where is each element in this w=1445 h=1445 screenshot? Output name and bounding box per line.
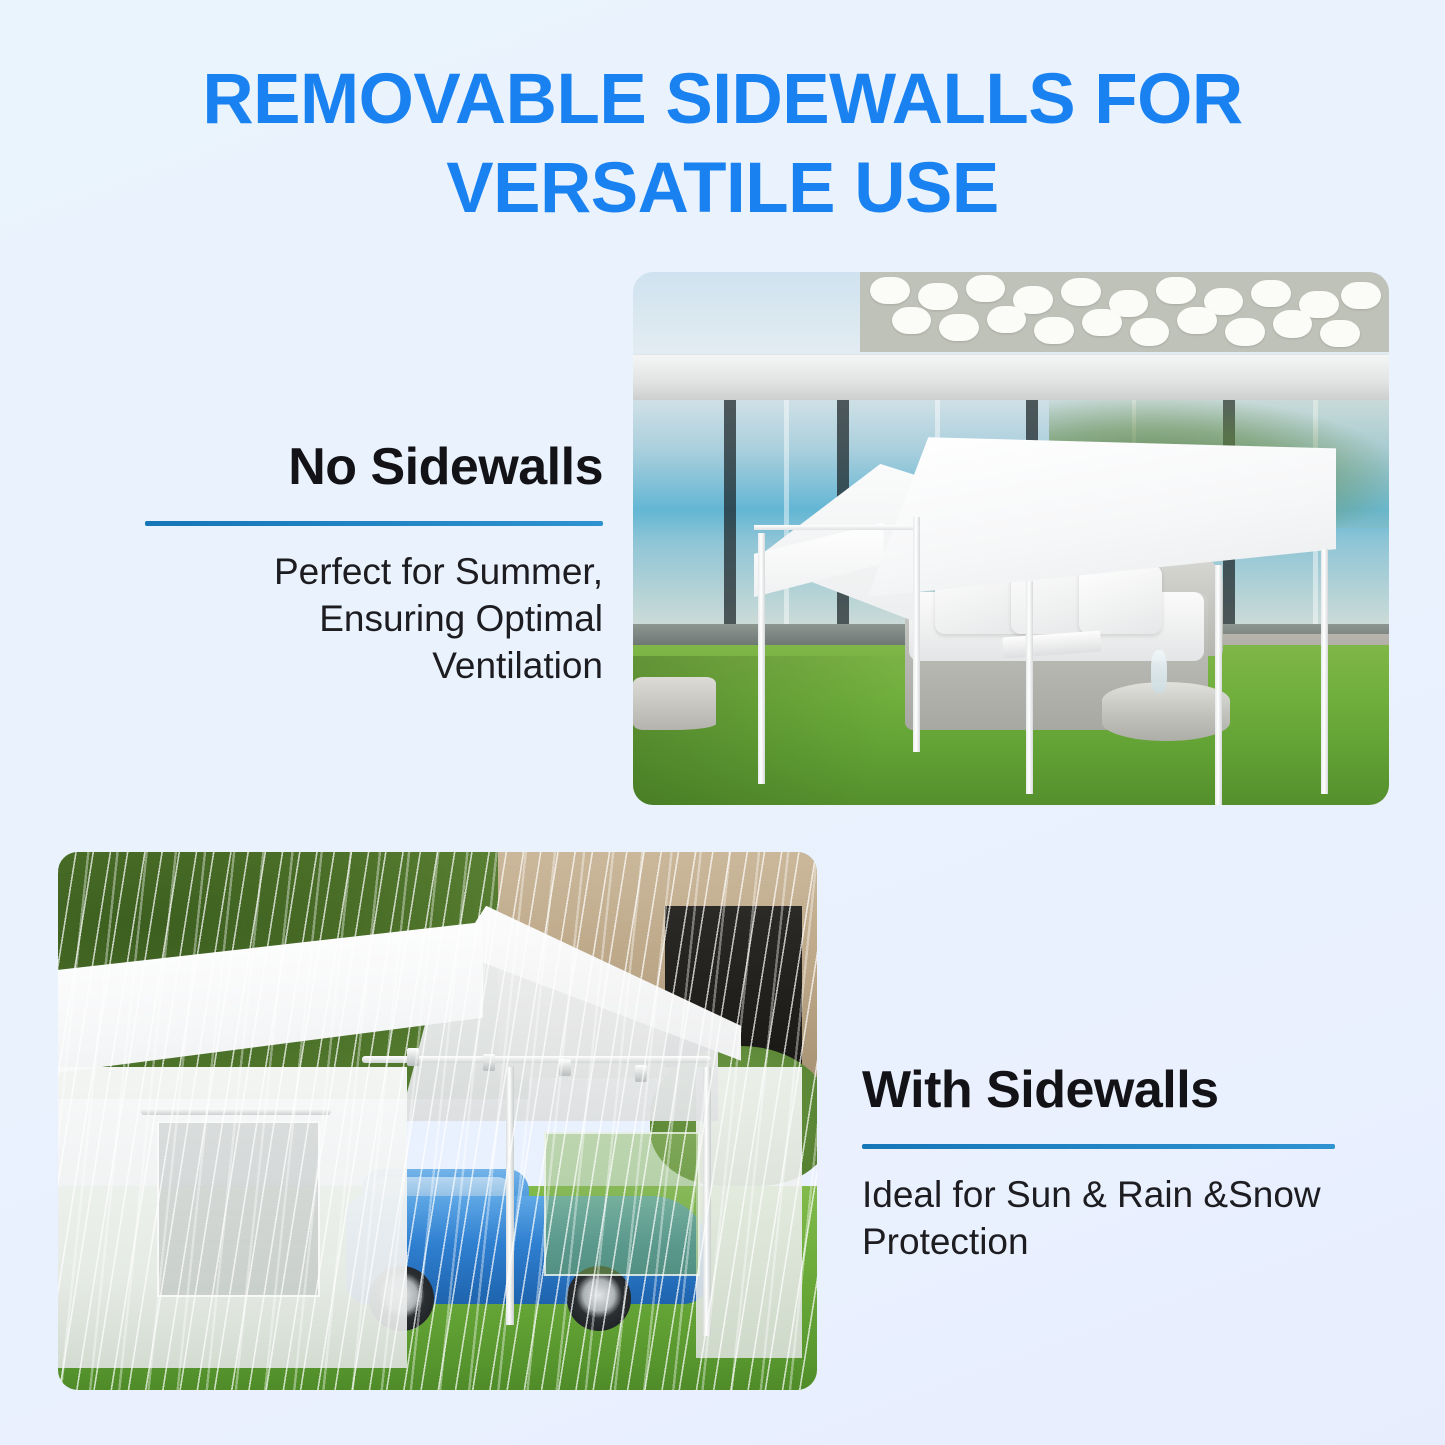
feature-with-sidewalls: With Sidewalls Ideal for Sun & Rain &Sno… [862,1063,1335,1265]
page-title: REMOVABLE SIDEWALLS FOR VERSATILE USE [0,56,1445,234]
marketing-banner: REMOVABLE SIDEWALLS FOR VERSATILE USE [0,0,1445,1445]
feature-heading: No Sidewalls [145,440,603,495]
photo-with-sidewalls [58,852,817,1390]
feature-body: Perfect for Summer, Ensuring Optimal Ven… [145,548,603,690]
photo-no-sidewalls [633,272,1389,805]
window-roll-bar [141,1108,331,1115]
feature-heading: With Sidewalls [862,1063,1335,1118]
sidewall-clip [407,1048,419,1065]
canopy-leg [1321,549,1328,794]
canopy-leg [1026,581,1033,794]
roof-fascia [633,355,1389,403]
carport-sidewall-window [157,1121,320,1297]
car-wheel [567,1266,632,1331]
sidewall-clip [635,1065,647,1082]
carport-open-window [544,1132,700,1276]
bottle [1151,650,1168,693]
feature-body: Ideal for Sun & Rain &Snow Protection [862,1171,1335,1266]
scene-with-sidewalls [58,852,817,1390]
side-table [1102,682,1231,741]
feature-divider [862,1144,1335,1149]
scene-no-sidewalls [633,272,1389,805]
sidewall-clip [483,1054,495,1071]
canopy-beam [754,525,920,530]
pillow [1079,565,1162,634]
planter-basket [633,677,716,730]
feature-no-sidewalls: No Sidewalls Perfect for Summer, Ensurin… [145,440,603,690]
pergola-slats [860,272,1389,352]
feature-divider [145,521,603,526]
sidewall-clip [559,1059,571,1076]
canopy-leg [913,517,920,752]
carport-post [703,1067,711,1336]
canopy-leg [758,533,765,784]
carport-post [506,1067,514,1325]
canopy-leg [1215,565,1222,805]
